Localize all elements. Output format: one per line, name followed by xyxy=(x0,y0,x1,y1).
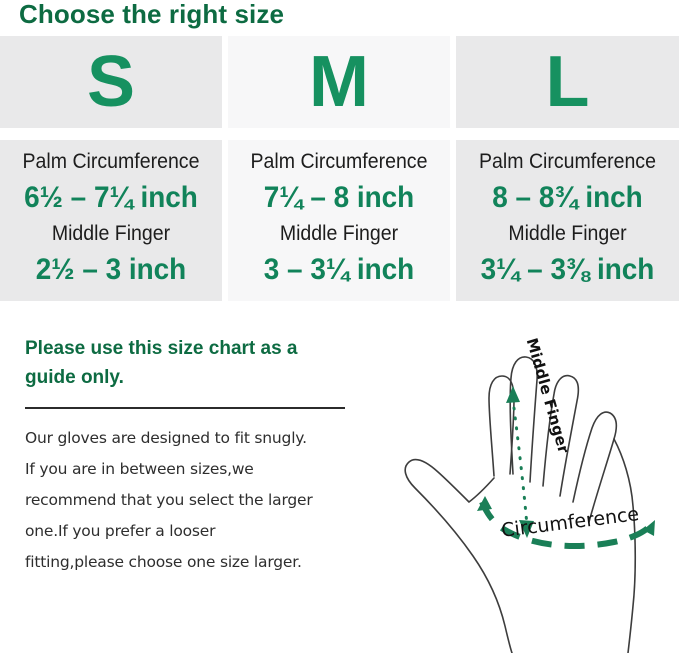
size-detail-card-s: Palm Circumference 6½ – 7¼ inch Middle F… xyxy=(0,140,222,301)
size-column-m: M Palm Circumference 7¼ – 8 inch Middle … xyxy=(228,36,450,128)
guide-body-line: If you are in between sizes,we xyxy=(25,454,360,485)
palm-circumference-label-s: Palm Circumference xyxy=(8,147,214,177)
page-title: Choose the right size xyxy=(19,0,284,30)
palm-circumference-label-l: Palm Circumference xyxy=(464,147,671,177)
middle-finger-value-m: 3 – 3¼ inch xyxy=(236,249,442,291)
guide-heading: Please use this size chart as a guide on… xyxy=(25,334,350,392)
guide-body: Our gloves are designed to fit snugly. I… xyxy=(25,423,360,578)
size-letter-l: L xyxy=(456,46,679,118)
palm-circumference-label-m: Palm Circumference xyxy=(236,147,442,177)
middle-finger-label-m: Middle Finger xyxy=(236,219,442,249)
guide-body-line: Our gloves are designed to fit snugly. xyxy=(25,423,360,454)
middle-finger-label-l: Middle Finger xyxy=(464,219,671,249)
size-detail-card-l: Palm Circumference 8 – 8¾ inch Middle Fi… xyxy=(456,140,679,301)
size-letter-card-m: M xyxy=(228,36,450,128)
size-detail-card-m: Palm Circumference 7¼ – 8 inch Middle Fi… xyxy=(228,140,450,301)
size-column-s: S Palm Circumference 6½ – 7¼ inch Middle… xyxy=(0,36,222,128)
guide-body-line: fitting,please choose one size larger. xyxy=(25,547,360,578)
guide-body-line: recommend that you select the larger xyxy=(25,485,360,516)
middle-finger-label-s: Middle Finger xyxy=(8,219,214,249)
middle-finger-value-l: 3¼ – 3⅜ inch xyxy=(464,249,671,291)
middle-finger-value-s: 2½ – 3 inch xyxy=(8,249,214,291)
size-column-l: L Palm Circumference 8 – 8¾ inch Middle … xyxy=(456,36,679,128)
palm-circumference-value-m: 7¼ – 8 inch xyxy=(236,177,442,219)
guide-body-line: one.If you prefer a looser xyxy=(25,516,360,547)
size-letter-card-l: L xyxy=(456,36,679,128)
hand-measurement-diagram: Middle Finger Circumference xyxy=(393,306,679,653)
palm-circumference-value-l: 8 – 8¾ inch xyxy=(464,177,671,219)
palm-circumference-value-s: 6½ – 7¼ inch xyxy=(8,177,214,219)
size-letter-m: M xyxy=(228,46,450,118)
size-letter-card-s: S xyxy=(0,36,222,128)
guide-divider xyxy=(25,407,345,409)
guide-note-block: Please use this size chart as a guide on… xyxy=(25,334,365,578)
size-letter-s: S xyxy=(0,46,222,118)
